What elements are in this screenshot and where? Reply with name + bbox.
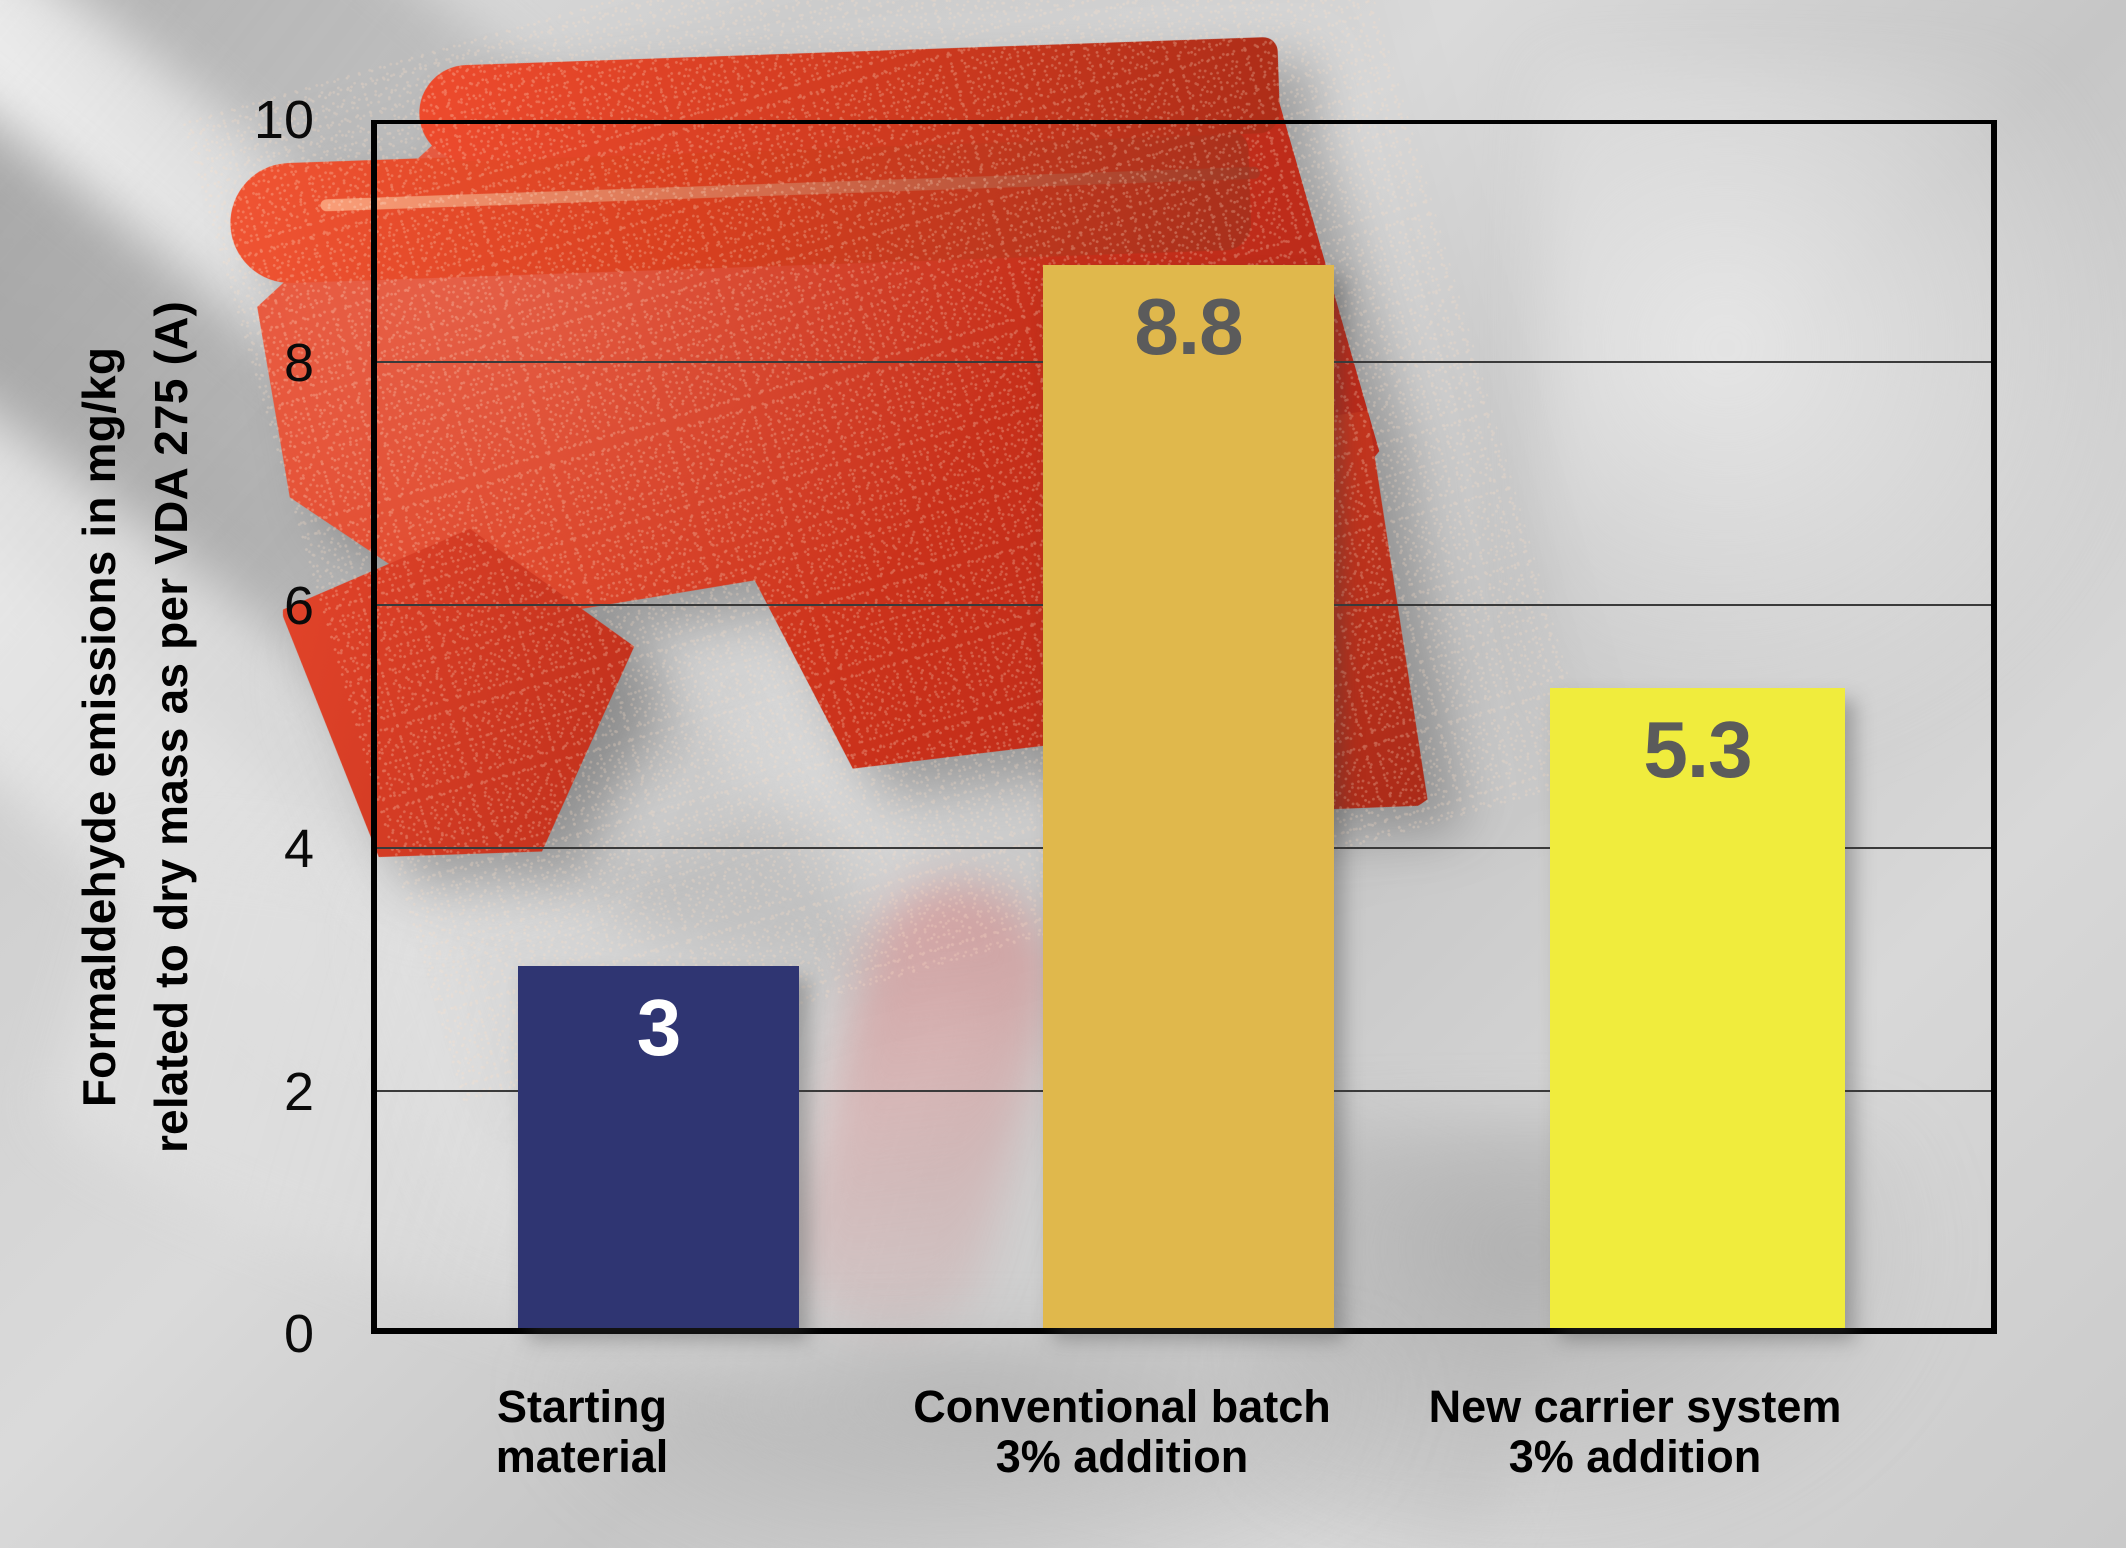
chart-figure: Formaldehyde emissions in mg/kg related … [0,0,2126,1548]
bar-value-conventional-batch: 8.8 [1134,287,1242,1328]
y-tick-4: 4 [0,818,340,880]
y-tick-2: 2 [0,1061,340,1123]
y-axis-title-line2: related to dry mass as per VDA 275 (A) [144,301,198,1153]
x-label-new-carrier-system: New carrier system 3% addition [1380,1382,1890,1483]
x-label-starting-material: Starting material [362,1382,802,1483]
bar-value-starting-material: 3 [637,988,681,1328]
bar-new-carrier-system[interactable]: 5.3 [1550,688,1845,1328]
y-tick-10: 10 [0,89,340,151]
y-tick-8: 8 [0,332,340,394]
bar-value-new-carrier-system: 5.3 [1643,710,1751,1328]
y-tick-6: 6 [0,575,340,637]
chart-canvas: Formaldehyde emissions in mg/kg related … [0,0,2126,1548]
bar-starting-material[interactable]: 3 [518,966,799,1328]
x-label-conventional-batch: Conventional batch 3% addition [872,1382,1372,1483]
bar-conventional-batch[interactable]: 8.8 [1043,265,1334,1328]
plot-area: 3 8.8 5.3 [371,120,1997,1334]
y-tick-0: 0 [0,1303,340,1365]
y-axis-title: Formaldehyde emissions in mg/kg related … [60,120,230,1334]
y-axis-title-line1: Formaldehyde emissions in mg/kg [72,347,126,1107]
